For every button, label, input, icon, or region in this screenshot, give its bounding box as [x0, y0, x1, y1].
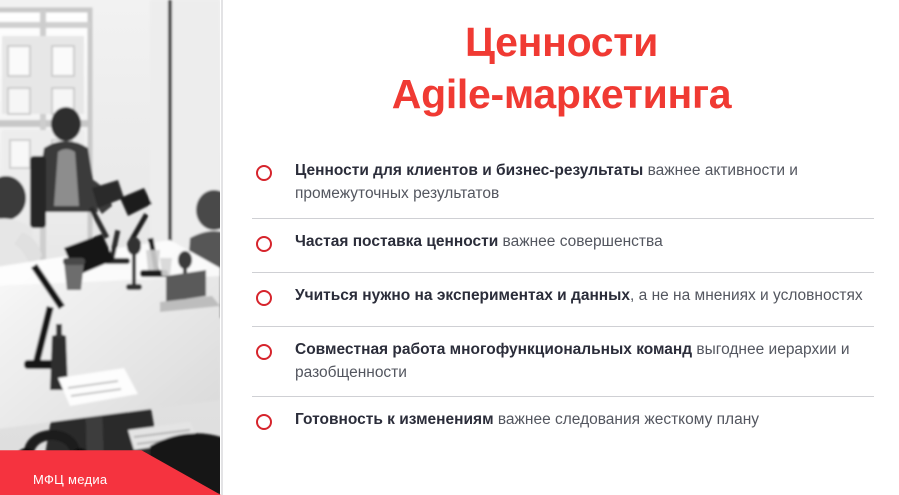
circle-outline-icon [256, 236, 272, 252]
slide-root: МФЦ медиа Ценности Agile-маркетинга Ценн… [0, 0, 899, 495]
list-item-rest: важнее совершенства [498, 233, 662, 250]
list-item-strong: Готовность к изменениям [295, 411, 494, 428]
list-item: Частая поставка ценности важнее совершен… [252, 219, 874, 273]
side-photo [0, 0, 220, 495]
list-item-text: Готовность к изменениям важнее следовани… [295, 397, 874, 443]
list-item-strong: Частая поставка ценности [295, 233, 498, 250]
circle-outline-icon [256, 290, 272, 306]
circle-outline-icon [256, 344, 272, 360]
list-item: Совместная работа многофункциональных ко… [252, 327, 874, 398]
values-list: Ценности для клиентов и бизнес-результат… [252, 148, 874, 450]
list-item-text: Учиться нужно на экспериментах и данных,… [295, 273, 874, 319]
list-item-rest: важнее следования жесткому плану [494, 411, 759, 428]
page-title: Ценности Agile-маркетинга [224, 16, 899, 120]
list-item: Ценности для клиентов и бизнес-результат… [252, 148, 874, 219]
circle-outline-icon [256, 165, 272, 181]
list-item: Учиться нужно на экспериментах и данных,… [252, 273, 874, 327]
panel-divider [221, 0, 223, 495]
office-meeting-photo [0, 0, 220, 495]
page-title-line-1: Ценности [224, 16, 899, 68]
circle-outline-icon [256, 414, 272, 430]
page-title-line-2: Agile-маркетинга [224, 68, 899, 120]
list-item-strong: Совместная работа многофункциональных ко… [295, 341, 692, 358]
list-item-strong: Учиться нужно на экспериментах и данных [295, 287, 630, 304]
list-item-text: Частая поставка ценности важнее совершен… [295, 219, 874, 265]
list-item-text: Ценности для клиентов и бизнес-результат… [295, 148, 874, 218]
list-item-strong: Ценности для клиентов и бизнес-результат… [295, 162, 643, 179]
list-item: Готовность к изменениям важнее следовани… [252, 397, 874, 450]
list-item-text: Совместная работа многофункциональных ко… [295, 327, 874, 397]
list-item-rest: , а не на мнениях и условностях [630, 287, 863, 304]
content-area: Ценности Agile-маркетинга Ценности для к… [224, 0, 899, 495]
